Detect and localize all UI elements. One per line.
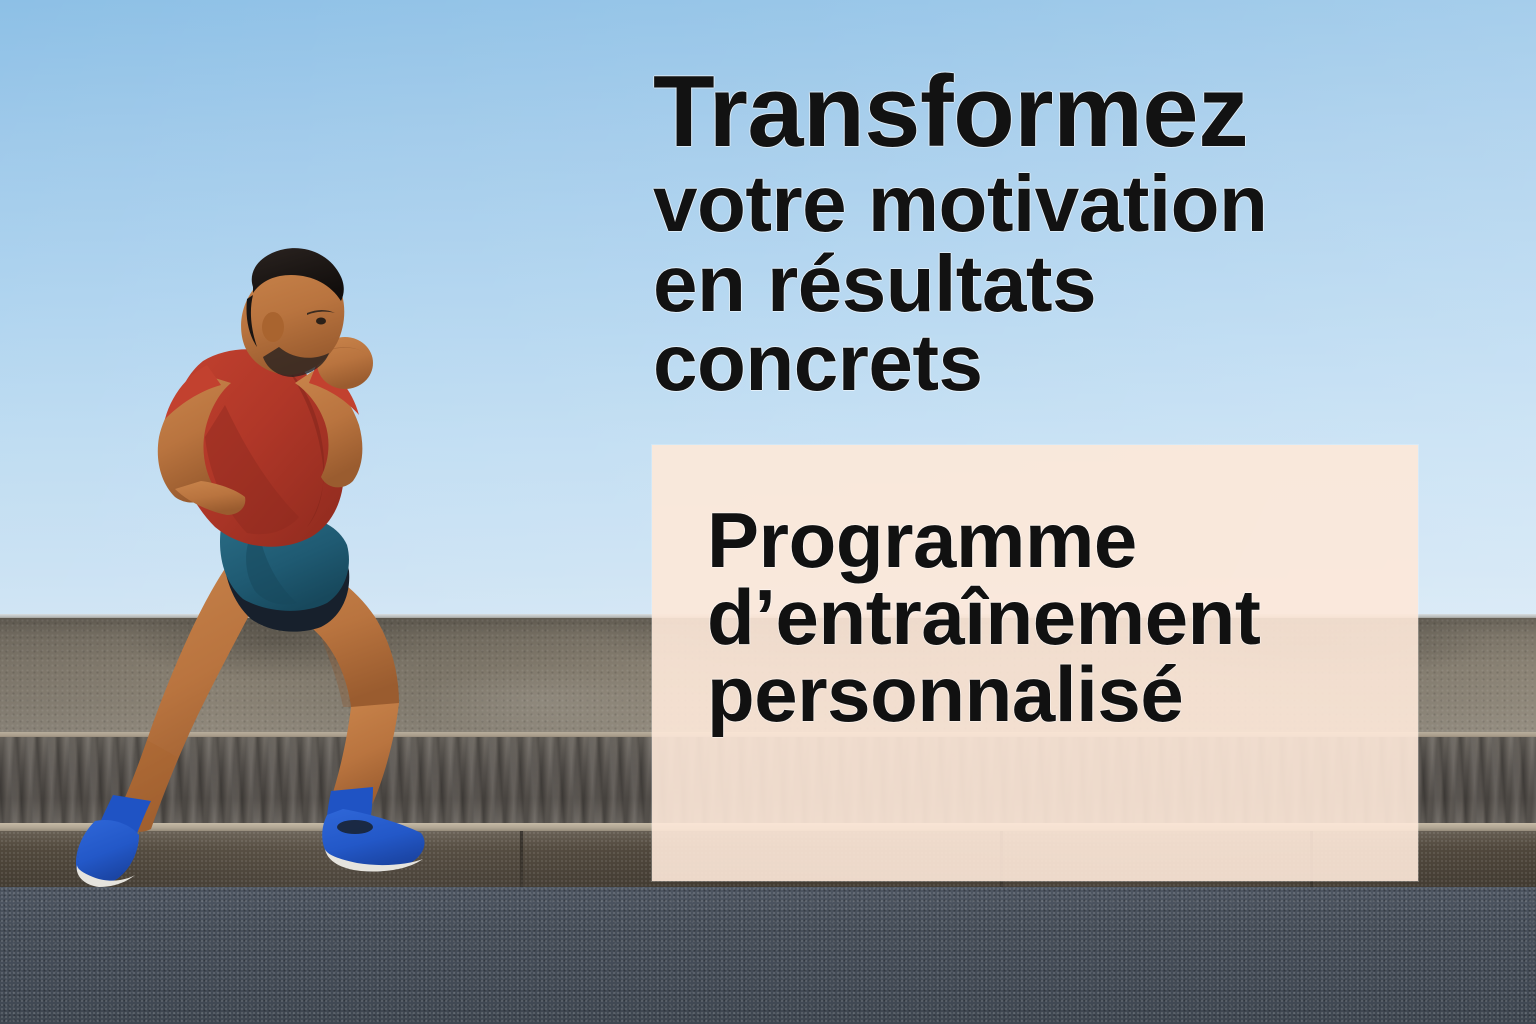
headline-line-1: Transformez — [653, 66, 1353, 159]
road-grit-texture — [0, 887, 1536, 1024]
runner-rear-shoe — [76, 820, 139, 887]
poster-canvas: Transformez votre motivation en résultat… — [0, 0, 1536, 1024]
cream-overlay-panel: Programme d’entraînement personnalisé — [652, 445, 1418, 881]
curb-joint-seam — [520, 831, 523, 889]
headline-line-2: votre motivation — [653, 167, 1353, 241]
panel-line-3: personnalisé — [707, 656, 1407, 733]
headline-line-4: concrets — [653, 326, 1353, 400]
asphalt-road-band — [0, 887, 1536, 1024]
panel-line-1: Programme — [707, 502, 1407, 579]
panel-text-block: Programme d’entraînement personnalisé — [707, 502, 1407, 734]
headline-block: Transformez votre motivation en résultat… — [653, 66, 1353, 406]
headline-line-3: en résultats — [653, 247, 1353, 321]
panel-line-2: d’entraînement — [707, 579, 1407, 656]
runner-front-shoe — [322, 809, 424, 872]
runner-photo-subject — [55, 235, 475, 880]
